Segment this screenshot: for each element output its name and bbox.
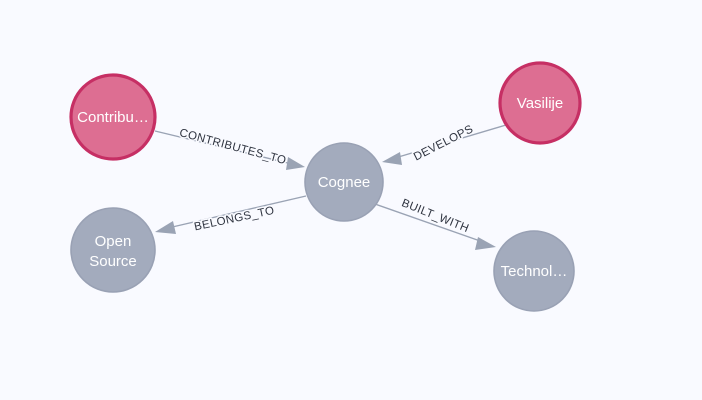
edge-arrowhead-develops xyxy=(382,152,402,165)
edge-arrowhead-contributes-to xyxy=(286,157,305,170)
graph-node-open-source[interactable]: Open Source xyxy=(71,208,155,292)
graph-node-contributor[interactable]: Contribu… xyxy=(71,75,155,159)
edge-label-develops: DEVELOPS xyxy=(412,123,476,163)
node-label-vasilije: Vasilije xyxy=(517,95,563,112)
node-label-open-source-line1: Open xyxy=(95,233,132,250)
node-label-open-source-line2: Source xyxy=(89,253,137,270)
graph-node-cognee[interactable]: Cognee xyxy=(305,143,383,221)
graph-node-vasilije[interactable]: Vasilije xyxy=(500,63,580,143)
edge-develops[interactable]: DEVELOPS xyxy=(382,123,506,165)
nodes-layer: Contribu… Vasilije Cognee Open Source Te… xyxy=(71,63,580,311)
edge-label-belongs-to: BELONGS_TO xyxy=(193,205,275,234)
graph-canvas[interactable]: CONTRIBUTES_TO DEVELOPS BELONGS_TO BUILT… xyxy=(0,0,702,400)
graph-visualization[interactable]: CONTRIBUTES_TO DEVELOPS BELONGS_TO BUILT… xyxy=(0,0,702,400)
edge-built-with[interactable]: BUILT_WITH xyxy=(375,197,496,250)
edge-belongs-to[interactable]: BELONGS_TO xyxy=(155,196,306,234)
node-circle-open-source[interactable] xyxy=(71,208,155,292)
edge-label-contributes-to: CONTRIBUTES_TO xyxy=(178,127,288,167)
node-label-contributor: Contribu… xyxy=(77,109,149,126)
edge-arrowhead-belongs-to xyxy=(155,221,176,234)
edge-arrowhead-built-with xyxy=(475,237,496,250)
node-label-technology: Technol… xyxy=(501,263,568,280)
node-label-cognee: Cognee xyxy=(318,174,371,191)
edge-contributes-to[interactable]: CONTRIBUTES_TO xyxy=(155,127,305,170)
graph-node-technology[interactable]: Technol… xyxy=(494,231,574,311)
